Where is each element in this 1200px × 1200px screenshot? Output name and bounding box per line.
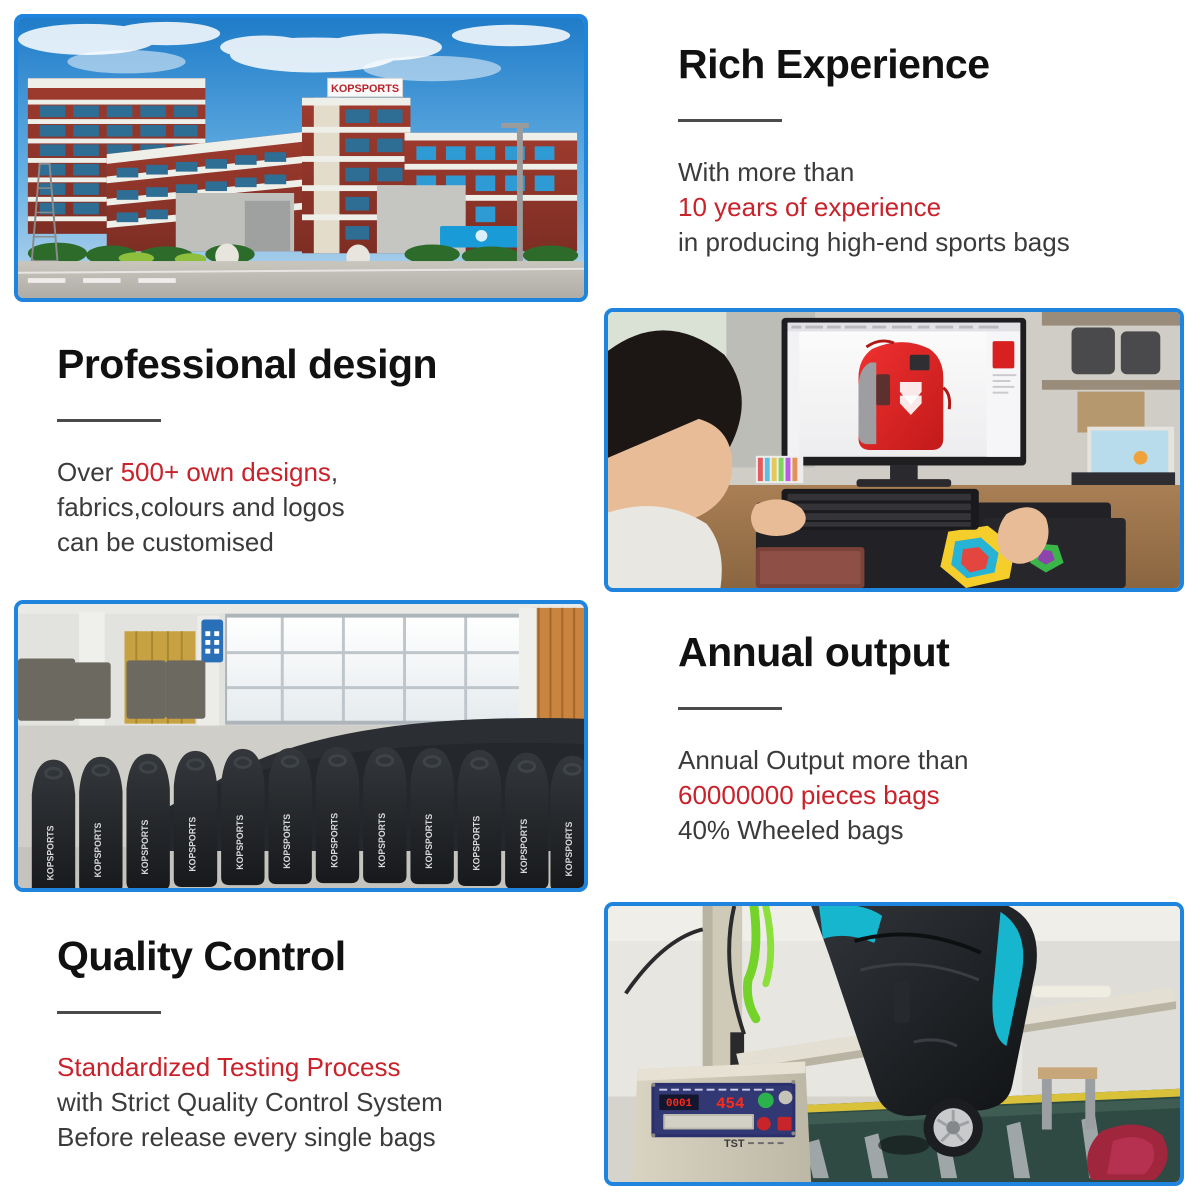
photo-warehouse-inner: KOPSPORTS KOPSPORTS KOPSPORT xyxy=(18,604,584,888)
body-annual-output: Annual Output more than 60000000 pieces … xyxy=(678,743,969,848)
photo-factory-inner: KOPSPORTS xyxy=(18,18,584,298)
photo-testing-inner: 0001 454 TST xyxy=(608,906,1180,1182)
heading-quality-control: Quality Control xyxy=(57,936,443,977)
machine-brand-label: TST xyxy=(724,1138,745,1150)
section-quality-control: Quality Control Standardized Testing Pro… xyxy=(57,936,443,1155)
factory-sign-text: KOPSPORTS xyxy=(331,83,399,95)
testing-machine-illustration: 0001 454 TST xyxy=(608,906,1180,1182)
body-line-3: Before release every single bags xyxy=(57,1120,443,1155)
product-feature-infographic: KOPSPORTS xyxy=(0,0,1200,1200)
section-rich-experience: Rich Experience With more than 10 years … xyxy=(678,44,1070,260)
bag-logo: KOPSPORTS xyxy=(140,820,150,875)
body-line-2: fabrics,colours and logos xyxy=(57,490,437,525)
heading-divider-annual-output xyxy=(678,707,782,710)
body-line-2-accent: 10 years of experience xyxy=(678,190,1070,225)
photo-designer-workstation xyxy=(604,308,1184,592)
body-line-1-accent: Standardized Testing Process xyxy=(57,1050,443,1085)
bag-logo: KOPSPORTS xyxy=(329,813,339,868)
heading-divider-professional-design xyxy=(57,419,161,422)
body-line-2-accent: 60000000 pieces bags xyxy=(678,778,969,813)
photo-factory-building: KOPSPORTS xyxy=(14,14,588,302)
counter-display: 0001 xyxy=(666,1098,692,1110)
body-line-3: in producing high-end sports bags xyxy=(678,225,1070,260)
bag-logo: KOPSPORTS xyxy=(235,815,245,870)
bag-logo: KOPSPORTS xyxy=(471,816,481,871)
section-professional-design: Professional design Over 500+ own design… xyxy=(57,344,437,560)
body-line-1-accent: 500+ own designs xyxy=(121,457,331,487)
body-line-2: with Strict Quality Control System xyxy=(57,1085,443,1120)
bag-logo: KOPSPORTS xyxy=(424,814,434,869)
bag-logo: KOPSPORTS xyxy=(519,819,529,874)
bag-logo: KOPSPORTS xyxy=(45,825,55,880)
photo-quality-testing-machine: 0001 454 TST xyxy=(604,902,1184,1186)
bag-logo: KOPSPORTS xyxy=(564,822,574,877)
value-display: 454 xyxy=(716,1095,744,1113)
bag-logo: KOPSPORTS xyxy=(377,813,387,868)
body-line-1-post: , xyxy=(331,457,338,487)
bag-logo: KOPSPORTS xyxy=(93,823,103,878)
body-line-1: With more than xyxy=(678,155,1070,190)
heading-rich-experience: Rich Experience xyxy=(678,44,1070,85)
body-line-3: can be customised xyxy=(57,525,437,560)
factory-illustration: KOPSPORTS xyxy=(18,18,584,298)
bag-logo: KOPSPORTS xyxy=(282,814,292,869)
body-line-1: Over 500+ own designs, xyxy=(57,455,437,490)
heading-divider-quality-control xyxy=(57,1011,161,1014)
body-line-1-pre: Over xyxy=(57,457,121,487)
heading-divider-rich-experience xyxy=(678,119,782,122)
heading-annual-output: Annual output xyxy=(678,632,969,673)
photo-designer-inner xyxy=(608,312,1180,588)
section-annual-output: Annual output Annual Output more than 60… xyxy=(678,632,969,848)
designer-illustration xyxy=(608,312,1180,588)
body-professional-design: Over 500+ own designs, fabrics,colours a… xyxy=(57,455,437,560)
photo-warehouse-bags: KOPSPORTS KOPSPORTS KOPSPORT xyxy=(14,600,588,892)
bag-logo: KOPSPORTS xyxy=(187,817,197,872)
body-line-3: 40% Wheeled bags xyxy=(678,813,969,848)
warehouse-illustration: KOPSPORTS KOPSPORTS KOPSPORT xyxy=(18,604,584,888)
body-line-1: Annual Output more than xyxy=(678,743,969,778)
body-rich-experience: With more than 10 years of experience in… xyxy=(678,155,1070,260)
body-quality-control: Standardized Testing Process with Strict… xyxy=(57,1050,443,1155)
heading-professional-design: Professional design xyxy=(57,344,437,385)
